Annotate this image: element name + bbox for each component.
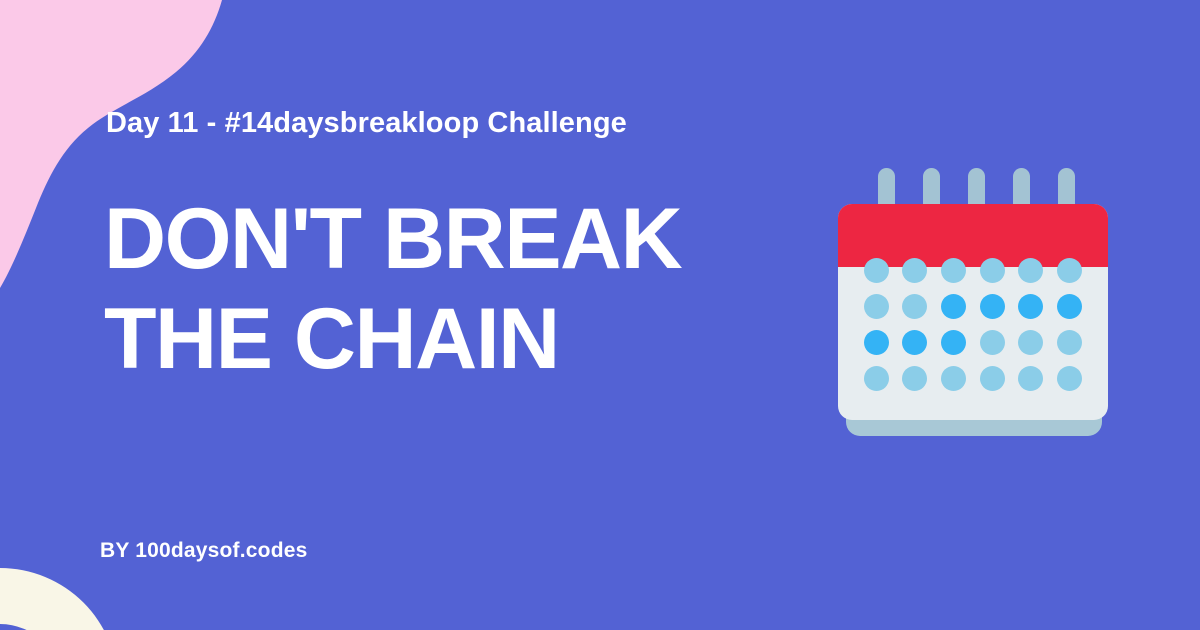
calendar-day-dot-r3c4 xyxy=(980,330,1005,355)
calendar-day-dot-r3c6 xyxy=(1057,330,1082,355)
calendar-day-dot-r4c6 xyxy=(1057,366,1082,391)
calendar-day-dot-r4c1 xyxy=(864,366,889,391)
calendar-day-dot-r4c5 xyxy=(1018,366,1043,391)
calendar-day-dot-r1c3 xyxy=(941,258,966,283)
calendar-day-dot-r3c3 xyxy=(941,330,966,355)
headline-line-2: THE CHAIN xyxy=(104,297,864,381)
calendar-day-dot-r3c5 xyxy=(1018,330,1043,355)
calendar-day-dot-r1c5 xyxy=(1018,258,1043,283)
social-banner: Day 11 - #14daysbreakloop Challenge DON'… xyxy=(0,0,1200,630)
subtitle-text: Day 11 - #14daysbreakloop Challenge xyxy=(106,106,627,141)
calendar-day-dot-r4c2 xyxy=(902,366,927,391)
calendar-day-dot-r1c2 xyxy=(902,258,927,283)
calendar-day-dot-r2c4 xyxy=(980,294,1005,319)
calendar-day-dot-r1c4 xyxy=(980,258,1005,283)
calendar-day-dot-r4c3 xyxy=(941,366,966,391)
calendar-day-dot-r2c3 xyxy=(941,294,966,319)
calendar-day-dot-r2c1 xyxy=(864,294,889,319)
cream-ring-shape xyxy=(0,568,118,630)
calendar-day-dot-r4c4 xyxy=(980,366,1005,391)
calendar-day-dot-r3c2 xyxy=(902,330,927,355)
calendar-day-grid xyxy=(857,252,1089,396)
byline-text: BY 100daysof.codes xyxy=(100,539,307,563)
calendar-day-dot-r2c5 xyxy=(1018,294,1043,319)
calendar-day-dot-r2c6 xyxy=(1057,294,1082,319)
headline-block: DON'T BREAK THE CHAIN xyxy=(104,197,864,398)
calendar-icon xyxy=(838,168,1110,436)
calendar-day-dot-r3c1 xyxy=(864,330,889,355)
headline-line-1: DON'T BREAK xyxy=(104,197,864,281)
calendar-day-dot-r2c2 xyxy=(902,294,927,319)
calendar-day-dot-r1c1 xyxy=(864,258,889,283)
calendar-day-dot-r1c6 xyxy=(1057,258,1082,283)
